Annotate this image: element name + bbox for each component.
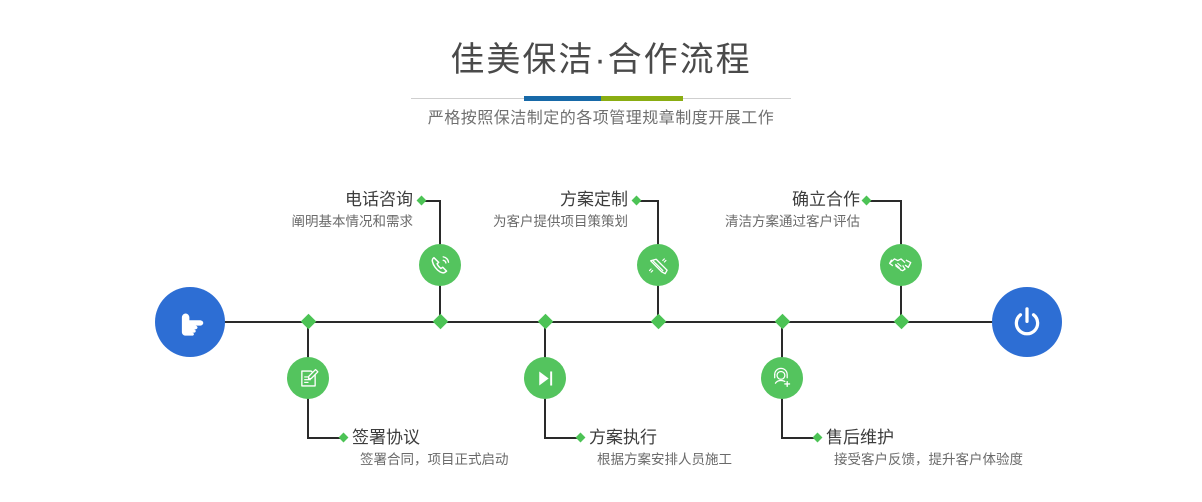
label-step-6-desc: 接受客户反馈，提升客户体验度 (834, 449, 1166, 471)
pointing-hand-icon (170, 302, 210, 342)
label-step-3-desc: 为客户提供项目策策划 (420, 211, 628, 233)
power-icon (1007, 302, 1047, 342)
axis-diamond-step-3 (651, 314, 667, 330)
axis-diamond-step-5 (894, 314, 910, 330)
document-edit-icon (296, 366, 321, 391)
process-flow-infographic: 佳美保洁·合作流程 严格按照保洁制定的各项管理规章制度开展工作 (0, 0, 1202, 502)
label-step-3: 方案定制 为客户提供项目策策划 (420, 189, 628, 233)
label-step-5-desc: 清洁方案通过客户评估 (660, 211, 860, 233)
leader-step-3 (639, 200, 658, 202)
axis-diamond-step-1 (433, 314, 449, 330)
label-step-5-title: 确立合作 (660, 189, 860, 211)
axis-diamond-step-4 (538, 314, 554, 330)
bullet-step-3 (632, 196, 642, 206)
node-step-5[interactable] (880, 244, 922, 286)
axis-diamond-step-2 (301, 314, 317, 330)
leader-step-5 (869, 200, 901, 202)
node-step-6[interactable] (761, 357, 803, 399)
bullet-step-2 (339, 433, 349, 443)
play-execute-icon (533, 366, 558, 391)
node-step-2[interactable] (287, 357, 329, 399)
label-step-1: 电话咨询 阐明基本情况和需求 (185, 189, 413, 233)
label-step-6-title: 售后维护 (826, 427, 1166, 449)
timeline-start-node (155, 287, 225, 357)
label-step-1-desc: 阐明基本情况和需求 (185, 211, 413, 233)
axis-diamond-step-6 (775, 314, 791, 330)
bullet-step-5 (862, 196, 872, 206)
label-step-3-title: 方案定制 (420, 189, 628, 211)
node-step-3[interactable] (637, 244, 679, 286)
pencil-edit-icon (646, 253, 671, 278)
timeline: 电话咨询 阐明基本情况和需求 签署协议 签署合同，项目正式启动 (0, 0, 1202, 502)
headset-support-add-icon (770, 366, 795, 391)
node-step-1[interactable] (419, 244, 461, 286)
phone-ringing-icon (427, 252, 453, 278)
node-step-4[interactable] (524, 357, 566, 399)
label-step-6: 售后维护 接受客户反馈，提升客户体验度 (826, 427, 1166, 471)
handshake-icon (888, 252, 914, 278)
timeline-end-node (992, 287, 1062, 357)
label-step-5: 确立合作 清洁方案通过客户评估 (660, 189, 860, 233)
label-step-1-title: 电话咨询 (185, 189, 413, 211)
